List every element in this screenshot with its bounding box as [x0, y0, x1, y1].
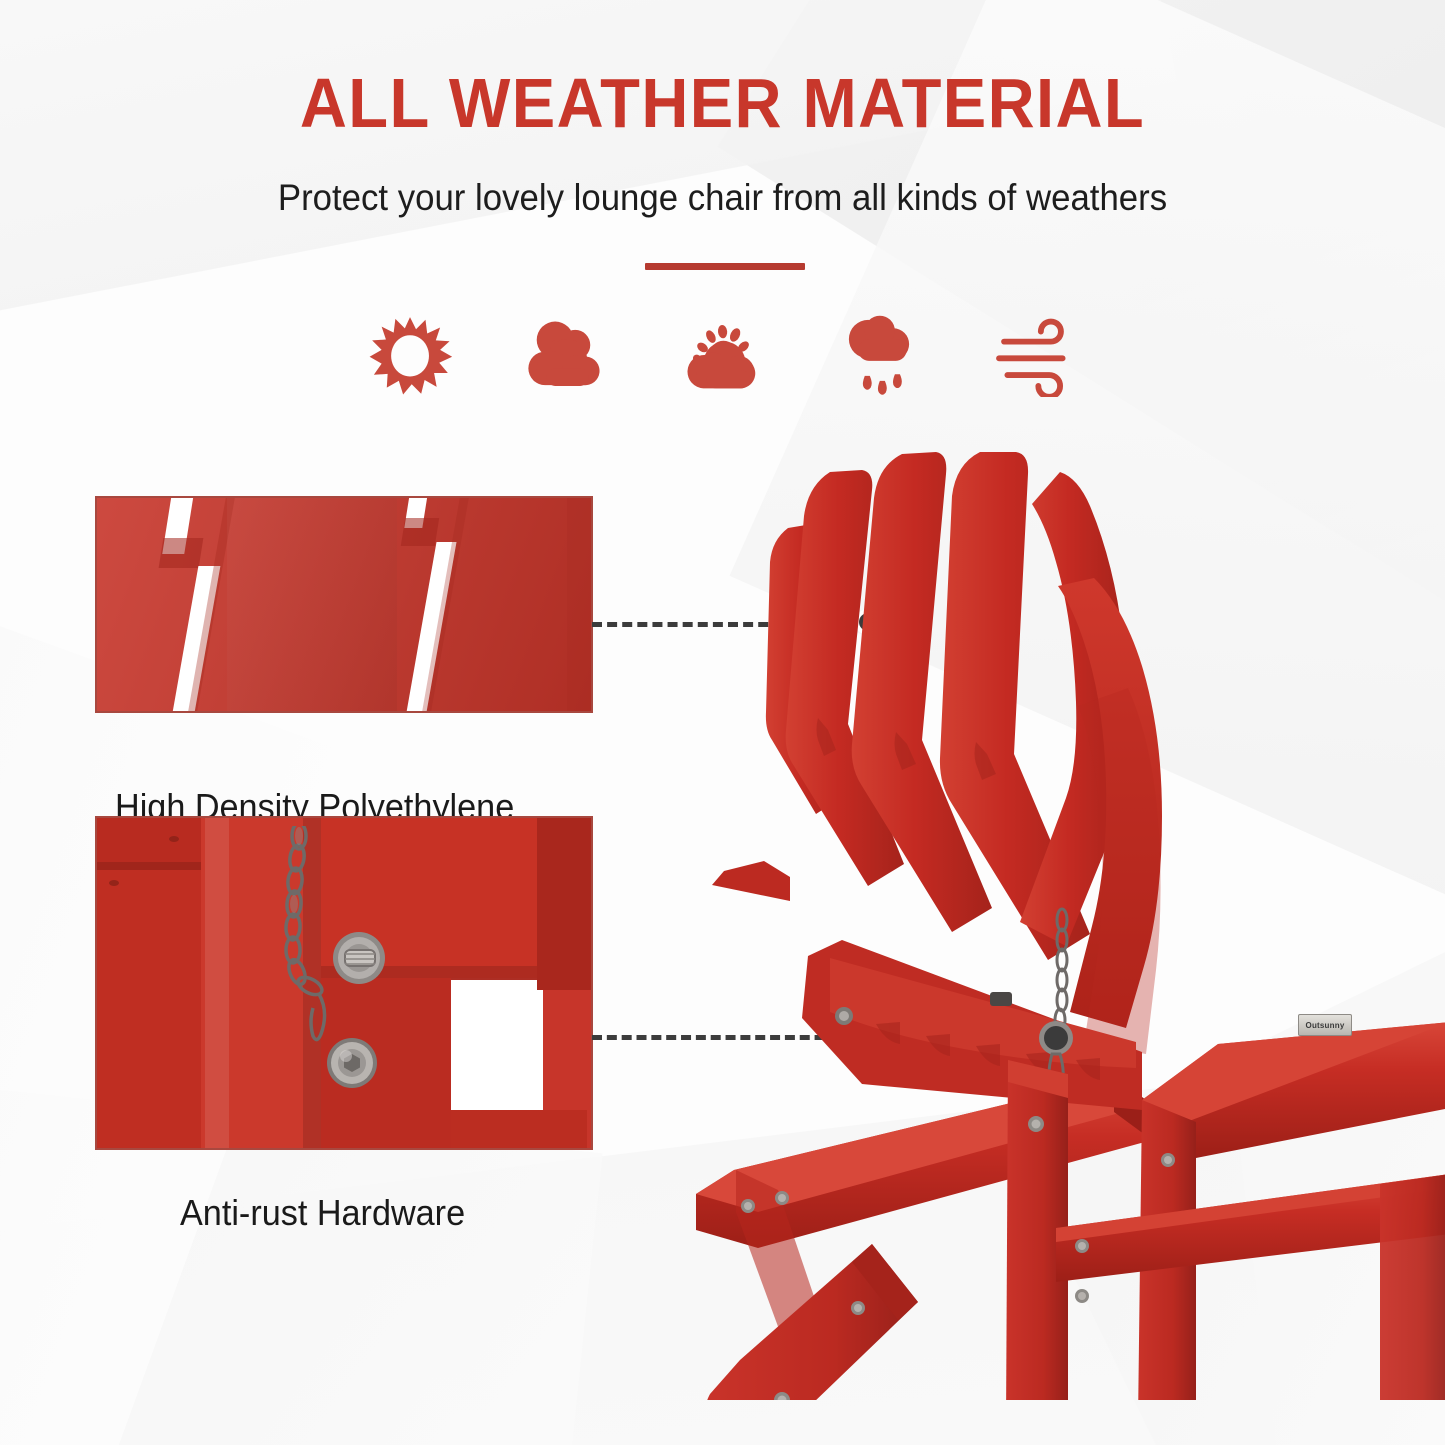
rain-cloud-icon [824, 303, 934, 408]
title-divider [645, 263, 805, 270]
promo-banner: ALL WEATHER MATERIAL Protect your lovely… [0, 0, 1445, 1445]
detail-photo-hardware [95, 816, 593, 1150]
detail-photo-hdpe [95, 496, 593, 713]
hardware-artwork [97, 818, 591, 1148]
brand-badge: Outsunny [1298, 1014, 1352, 1036]
sun-icon [355, 303, 465, 408]
chair-right-leg [1380, 1174, 1445, 1400]
partly-sunny-icon [668, 303, 778, 408]
page-subtitle: Protect your lovely lounge chair from al… [43, 173, 1401, 223]
caption-hardware: Anti-rust Hardware [180, 1192, 465, 1234]
page-title: ALL WEATHER MATERIAL [51, 64, 1395, 142]
product-image-adirondack-chair [690, 400, 1445, 1400]
wind-icon [980, 303, 1090, 408]
hdpe-slat-artwork [97, 498, 591, 711]
cloudy-icon [511, 303, 621, 408]
weather-icon-row [355, 300, 1090, 410]
